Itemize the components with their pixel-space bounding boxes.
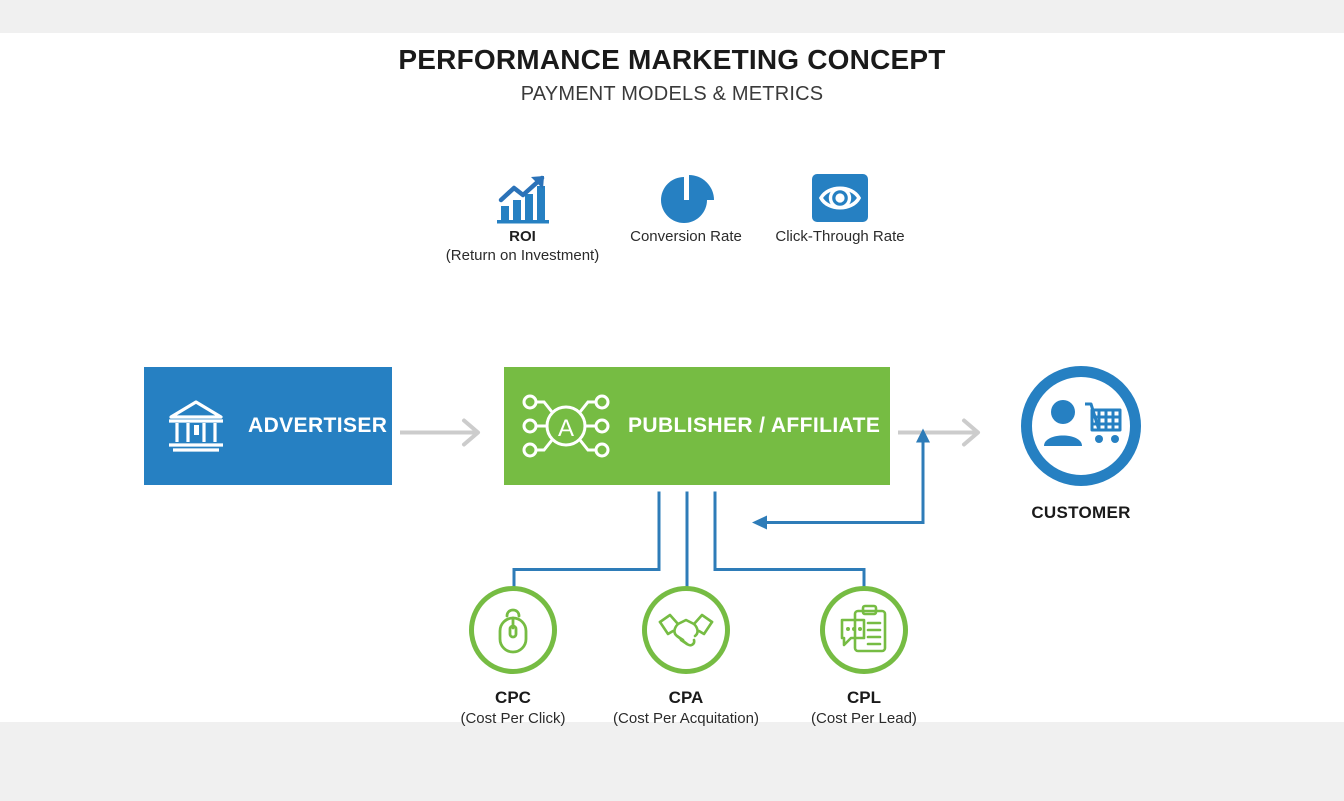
bank-institution-icon [144,397,248,455]
metrics-row: ROI (Return on Investment) Conversion Ra… [0,168,1344,288]
payment-model-cpl[interactable]: CPL (Cost Per Lead) [764,586,964,727]
payment-model-cpc-sub: (Cost Per Click) [413,710,613,727]
bottom-margin-band [0,722,1344,768]
metric-roi-sub: (Return on Investment) [375,247,670,264]
customer-node[interactable] [1021,366,1141,486]
svg-text:A: A [558,415,574,442]
payment-model-cpc[interactable]: CPC (Cost Per Click) [413,586,613,727]
payment-model-cpa-sub: (Cost Per Acquitation) [586,710,786,727]
arrow-advertiser-to-publisher [400,421,478,445]
arrow-publisher-to-customer [898,421,978,445]
diagram-canvas: PERFORMANCE MARKETING CONCEPT PAYMENT MO… [0,0,1344,768]
affiliate-network-icon: A [504,390,628,462]
payment-model-cpa-name: CPA [586,688,786,708]
eye-icon [720,168,960,224]
customer-cart-icon [1021,366,1141,486]
payment-model-cpc-name: CPC [413,688,613,708]
metric-click-through-rate[interactable]: Click-Through Rate [720,168,960,245]
payment-model-cpl-sub: (Cost Per Lead) [764,710,964,727]
slide-surface: PERFORMANCE MARKETING CONCEPT PAYMENT MO… [0,33,1344,722]
flow-box-publisher-label: PUBLISHER / AFFILIATE [628,414,880,438]
handshake-icon [642,586,730,674]
top-margin-band [0,0,1344,33]
flow-box-publisher[interactable]: A PUBLISHER / AFFILIATE [504,367,890,485]
clipboard-chat-icon [820,586,908,674]
computer-mouse-icon [469,586,557,674]
flow-box-advertiser-label: ADVERTISER [248,414,387,438]
page-title: PERFORMANCE MARKETING CONCEPT [0,44,1344,76]
metric-ctr-sub: Click-Through Rate [720,228,960,245]
page-subtitle: PAYMENT MODELS & METRICS [0,83,1344,106]
flow-box-advertiser[interactable]: ADVERTISER [144,367,392,485]
payment-model-cpa[interactable]: CPA (Cost Per Acquitation) [586,586,786,727]
customer-label: CUSTOMER [961,503,1201,523]
payment-model-cpl-name: CPL [764,688,964,708]
